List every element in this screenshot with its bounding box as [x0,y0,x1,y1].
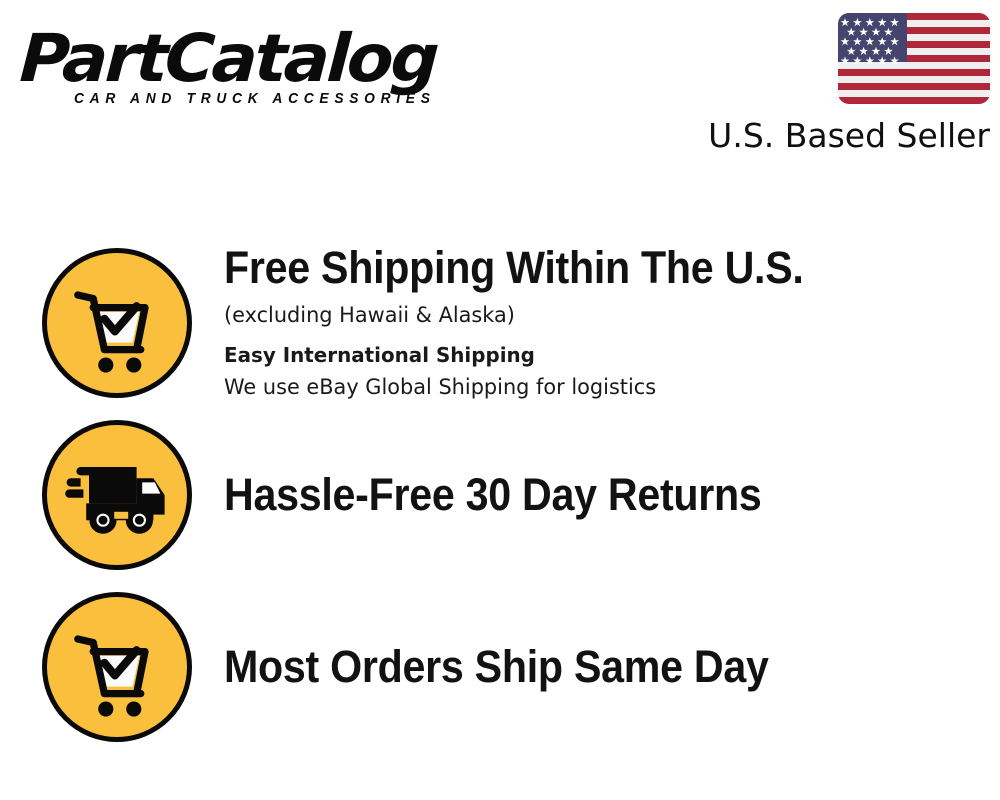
feature-subtext: (excluding Hawaii & Alaska) [224,300,957,331]
feature-text: Most Orders Ship Same Day [224,642,1000,692]
feature-subtext-strong: Easy International Shipping [224,340,957,371]
us-flag-icon [838,13,990,104]
brand-wordmark: PartCatalog [18,24,506,94]
feature-text: Free Shipping Within The U.S. (excluding… [224,243,1000,403]
feature-subtext: We use eBay Global Shipping for logistic… [224,372,957,403]
brand-logo: PartCatalog CAR AND TRUCK ACCESSORIES [22,24,492,116]
feature-text: Hassle-Free 30 Day Returns [224,470,1000,520]
feature-row: Most Orders Ship Same Day [0,591,1000,742]
cart-check-icon [42,248,192,398]
brand-tagline: CAR AND TRUCK ACCESSORIES [74,90,459,107]
feature-row: Hassle-Free 30 Day Returns [0,419,1000,570]
feature-title: Free Shipping Within The U.S. [224,243,916,293]
feature-row: Free Shipping Within The U.S. (excluding… [0,247,1000,398]
promo-banner: PartCatalog CAR AND TRUCK ACCESSORIES [0,0,1000,800]
delivery-truck-icon [42,420,192,570]
feature-title: Most Orders Ship Same Day [224,642,916,692]
seller-note: U.S. Based Seller [708,116,990,156]
cart-check-icon [42,592,192,742]
feature-title: Hassle-Free 30 Day Returns [224,470,916,520]
